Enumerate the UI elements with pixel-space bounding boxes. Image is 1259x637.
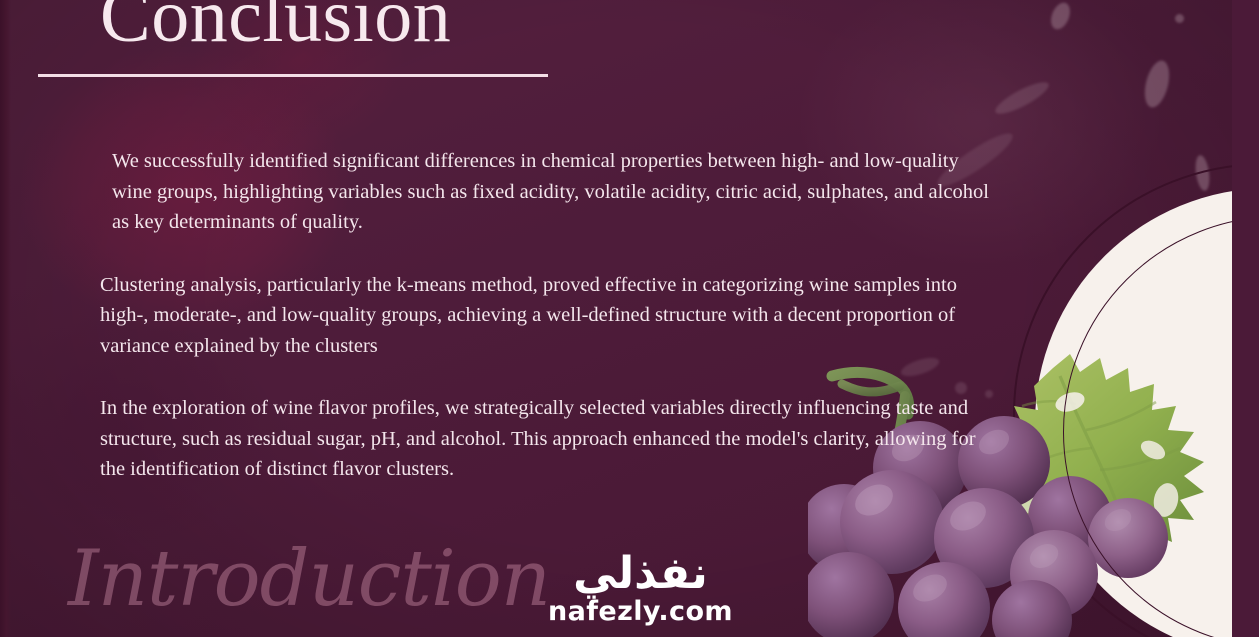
paragraph-2: Clustering analysis, particularly the k-… [100, 270, 992, 362]
nafezly-logo-url: nafezly.com [548, 597, 733, 627]
slide-conclusion: Conclusion We successfully identified si… [0, 0, 1259, 637]
paragraph-1: We successfully identified significant d… [100, 146, 992, 238]
paragraph-3: In the exploration of wine flavor profil… [100, 393, 992, 485]
nafezly-watermark-logo: نفذلي nafezly.com [548, 552, 733, 627]
title-underline-rule [38, 74, 548, 77]
body-content: We successfully identified significant d… [100, 146, 992, 485]
wine-splash-droplet [1175, 14, 1184, 23]
page-title: Conclusion [100, 0, 451, 54]
nafezly-logo-arabic: نفذلي [548, 552, 733, 596]
left-edge-band [0, 0, 11, 637]
introduction-script-watermark: Introduction [68, 540, 550, 618]
right-edge-band [1232, 0, 1259, 637]
